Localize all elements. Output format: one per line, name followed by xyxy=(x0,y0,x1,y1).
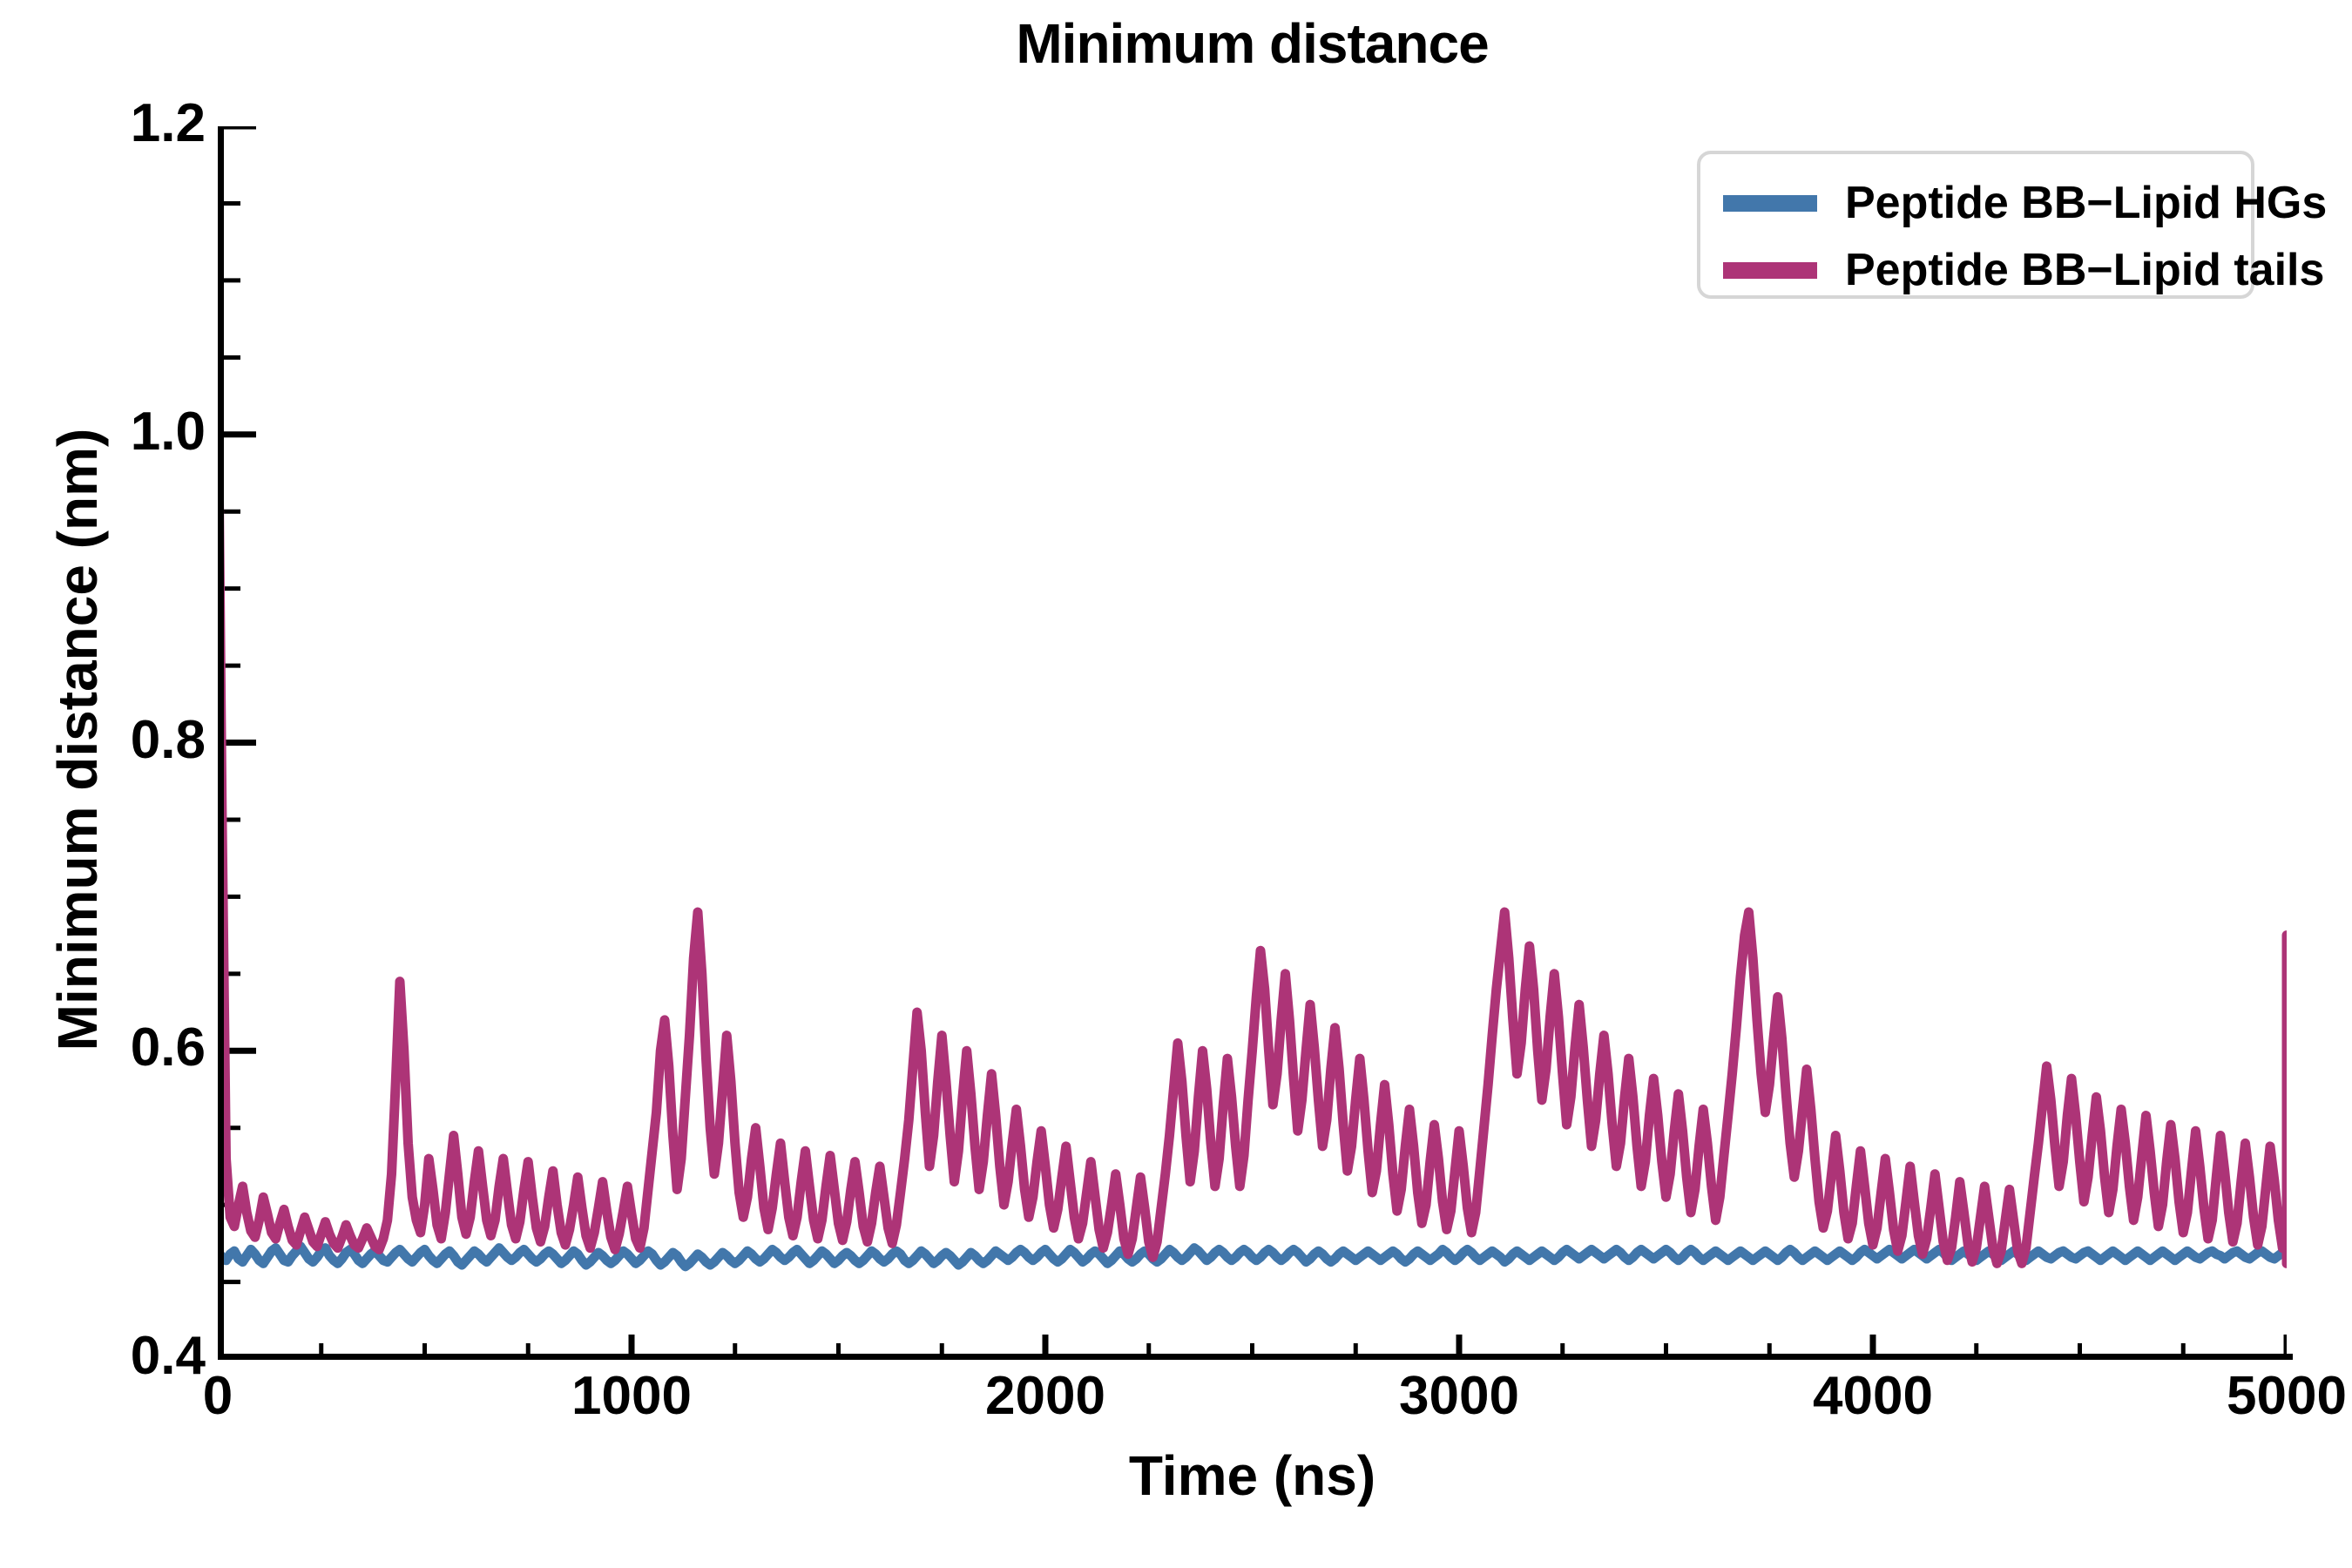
y-tick-label: 0.6 xyxy=(131,1021,206,1075)
x-tick-label: 3000 xyxy=(1399,1369,1519,1423)
legend-item-label: Peptide BB−Lipid HGs xyxy=(1845,180,2327,226)
legend-color-swatch xyxy=(1723,195,1817,212)
legend-item-hgs: Peptide BB−Lipid HGs xyxy=(1723,180,2327,226)
x-tick-label: 4000 xyxy=(1813,1369,1933,1423)
x-tick-label: 1000 xyxy=(571,1369,692,1423)
legend-item-label: Peptide BB−Lipid tails xyxy=(1845,247,2324,293)
plot-area xyxy=(218,126,2287,1359)
y-axis-spine xyxy=(218,126,224,1360)
y-axis-title: Minimum distance (nm) xyxy=(50,86,105,1393)
y-tick-label: 0.4 xyxy=(131,1329,206,1383)
series-lines xyxy=(218,357,2287,1267)
figure-canvas: Minimum distance 1.21.00.80.60.4 0100020… xyxy=(0,0,2352,1568)
x-axis-title: Time (ns) xyxy=(218,1448,2287,1504)
y-tick-label: 0.8 xyxy=(131,713,206,767)
y-tick-label: 1.0 xyxy=(131,405,206,459)
legend-color-swatch xyxy=(1723,262,1817,279)
x-tick-label: 2000 xyxy=(985,1369,1105,1423)
legend: Peptide BB−Lipid HGs Peptide BB−Lipid ta… xyxy=(1697,151,2254,299)
plot-svg xyxy=(218,126,2287,1359)
legend-item-tails: Peptide BB−Lipid tails xyxy=(1723,247,2324,293)
y-tick-label: 1.2 xyxy=(131,97,206,151)
x-tick-label: 5000 xyxy=(2227,1369,2347,1423)
x-tick-label: 0 xyxy=(203,1369,233,1423)
chart-title: Minimum distance xyxy=(218,16,2287,71)
series-line-1 xyxy=(218,357,2287,1263)
x-axis-spine xyxy=(218,1354,2293,1360)
